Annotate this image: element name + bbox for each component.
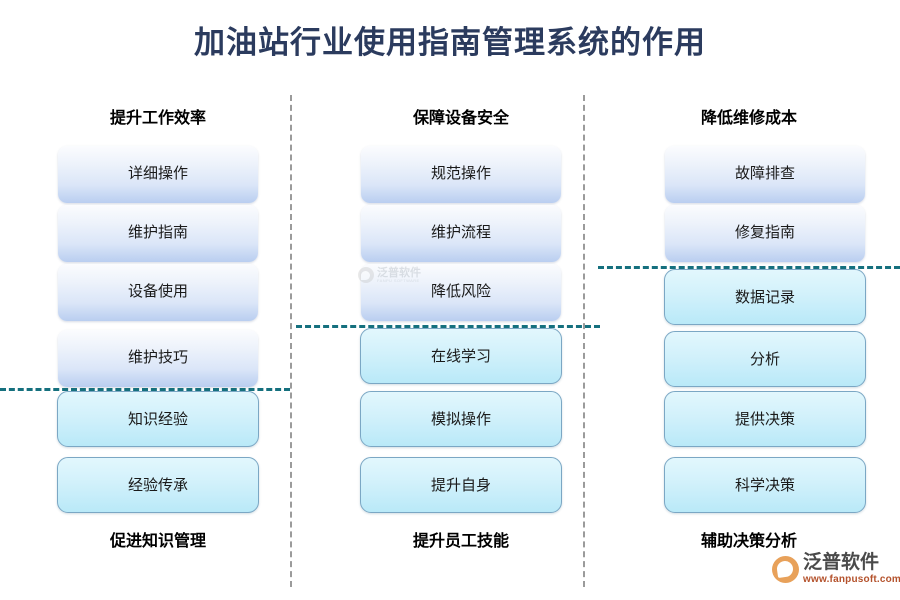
column-footer-2: 提升员工技能 (331, 531, 591, 553)
brand-logo-text: 泛普软件 www.fanpusoft.com (803, 553, 900, 585)
column-header-2: 保障设备安全 (331, 108, 591, 130)
box-col1-lower-1[interactable]: 知识经验 (57, 391, 259, 447)
box-col3-lower-1[interactable]: 数据记录 (664, 269, 866, 325)
box-col3-upper-1[interactable]: 故障排查 (665, 146, 865, 203)
column-header-3: 降低维修成本 (619, 108, 879, 130)
column-divider-1 (290, 95, 292, 587)
infographic-canvas: 加油站行业使用指南管理系统的作用 提升工作效率 详细操作 维护指南 设备使用 维… (0, 0, 900, 600)
box-col2-lower-1[interactable]: 在线学习 (360, 328, 562, 384)
column-divider-2 (583, 95, 585, 587)
column-footer-1: 促进知识管理 (28, 531, 288, 553)
box-col3-upper-2[interactable]: 修复指南 (665, 205, 865, 262)
box-col1-lower-2[interactable]: 经验传承 (57, 457, 259, 513)
fanpu-mark-icon (772, 556, 799, 583)
box-col3-lower-4[interactable]: 科学决策 (664, 457, 866, 513)
box-col2-lower-2[interactable]: 模拟操作 (360, 391, 562, 447)
column-header-1: 提升工作效率 (28, 108, 288, 130)
box-col1-upper-3[interactable]: 设备使用 (58, 264, 258, 321)
page-title: 加油站行业使用指南管理系统的作用 (0, 22, 900, 64)
box-col1-upper-4[interactable]: 维护技巧 (58, 330, 258, 387)
box-col1-upper-2[interactable]: 维护指南 (58, 205, 258, 262)
box-col2-lower-3[interactable]: 提升自身 (360, 457, 562, 513)
column-footer-3: 辅助决策分析 (619, 531, 879, 553)
box-col3-lower-2[interactable]: 分析 (664, 331, 866, 387)
brand-url: www.fanpusoft.com (803, 575, 900, 585)
box-col3-lower-3[interactable]: 提供决策 (664, 391, 866, 447)
brand-name-cn: 泛普软件 (803, 553, 900, 572)
brand-logo: 泛普软件 www.fanpusoft.com (772, 553, 900, 585)
box-col1-upper-1[interactable]: 详细操作 (58, 146, 258, 203)
box-col2-upper-1[interactable]: 规范操作 (361, 146, 561, 203)
box-col2-upper-3[interactable]: 降低风险 (361, 264, 561, 321)
box-col2-upper-2[interactable]: 维护流程 (361, 205, 561, 262)
